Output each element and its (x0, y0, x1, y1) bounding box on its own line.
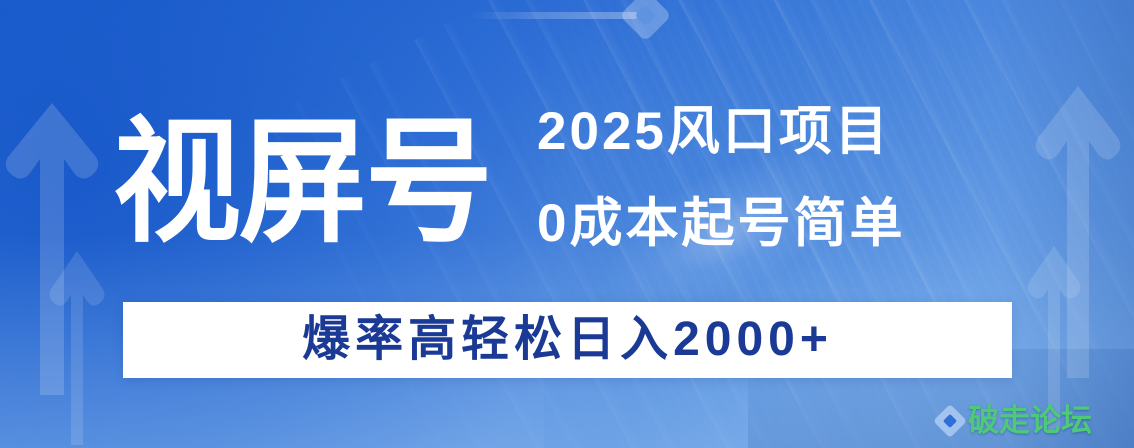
promo-banner-poster: 视屏号 2025风口项目 0成本起号简单 爆率高轻松日入2000+ 破走论坛 (0, 0, 1134, 448)
headline-line-2: 0成本起号简单 (537, 178, 1067, 270)
watermark-text: 破走论坛 (968, 404, 1092, 438)
headline-block: 2025风口项目 0成本起号简单 (537, 86, 1067, 270)
headline-line-1: 2025风口项目 (537, 86, 1067, 178)
arrow-up-left-small-icon (47, 245, 107, 445)
page-title: 视屏号 (113, 104, 491, 263)
top-accent-line (470, 12, 638, 19)
highlight-banner-text: 爆率高轻松日入2000+ (302, 312, 833, 368)
diamond-icon (933, 404, 967, 438)
watermark: 破走论坛 (938, 404, 1092, 438)
highlight-banner: 爆率高轻松日入2000+ (123, 302, 1012, 378)
